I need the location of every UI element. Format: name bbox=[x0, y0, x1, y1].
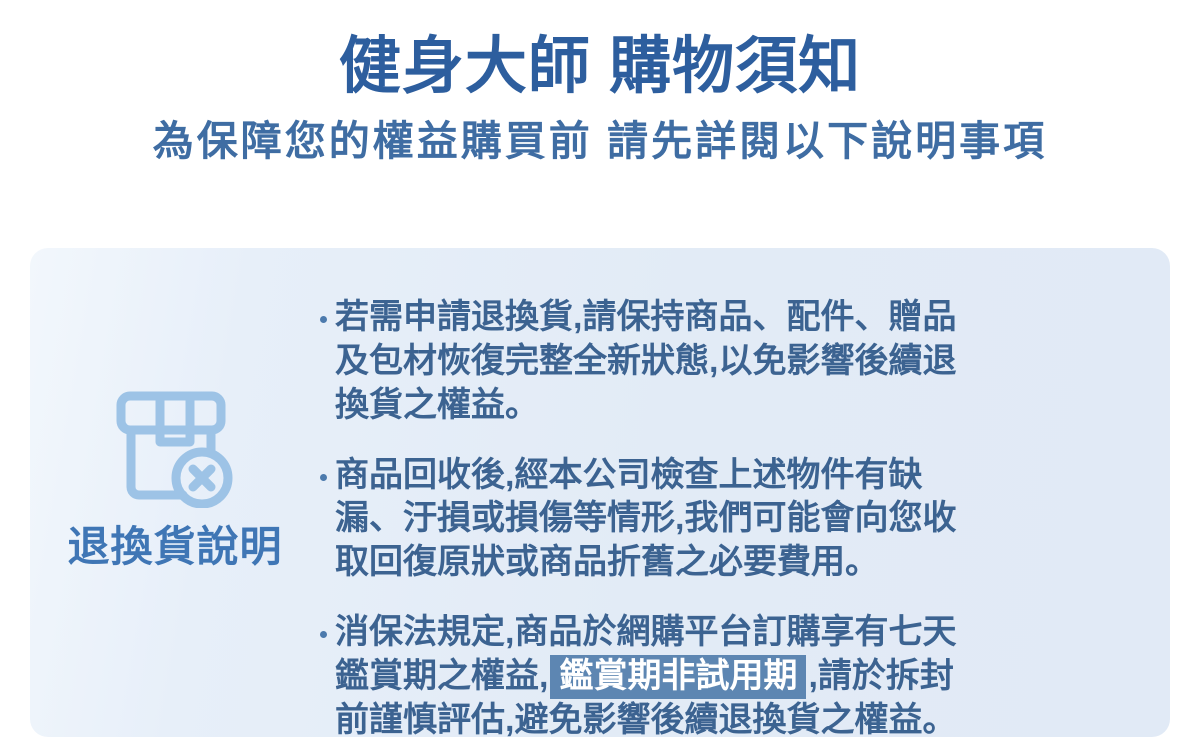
bullet-return-condition: 若需申請退換貨,請保持商品、配件、贈品及包材恢復完整全新狀態,以免影響後續退換貨… bbox=[335, 296, 972, 428]
list-item: 若需申請退換貨,請保持商品、配件、贈品及包材恢復完整全新狀態,以免影響後續退換貨… bbox=[320, 296, 1148, 428]
package-return-x-icon bbox=[113, 390, 237, 508]
policy-text-column: 若需申請退換貨,請保持商品、配件、贈品及包材恢復完整全新狀態,以免影響後續退換貨… bbox=[320, 248, 1170, 743]
bullet-dot-icon bbox=[320, 474, 327, 481]
icon-label: 退換貨說明 bbox=[67, 526, 282, 568]
page-title: 健身大師 購物須知 bbox=[0, 34, 1200, 101]
bullet-dot-icon bbox=[320, 631, 327, 638]
return-policy-panel: 退換貨說明 若需申請退換貨,請保持商品、配件、贈品及包材恢復完整全新狀態,以免影… bbox=[30, 248, 1170, 737]
icon-column: 退換貨說明 bbox=[30, 248, 320, 568]
list-item: 消保法規定,商品於網購平台訂購享有七天鑑賞期之權益,鑑賞期非試用期,請於拆封前謹… bbox=[320, 611, 1148, 743]
list-item: 商品回收後,經本公司檢查上述物件有缺漏、汙損或損傷等情形,我們可能會向您收取回復… bbox=[320, 454, 1148, 586]
page-subtitle: 為保障您的權益購買前 請先詳閱以下說明事項 bbox=[0, 119, 1200, 164]
bullet-dot-icon bbox=[320, 316, 327, 323]
highlight-badge: 鑑賞期非試用期 bbox=[550, 655, 806, 699]
bullet-inspection-fee: 商品回收後,經本公司檢查上述物件有缺漏、汙損或損傷等情形,我們可能會向您收取回復… bbox=[335, 454, 972, 586]
page-header: 健身大師 購物須知 為保障您的權益購買前 請先詳閱以下說明事項 bbox=[0, 0, 1200, 164]
bullet-seven-day-policy: 消保法規定,商品於網購平台訂購享有七天鑑賞期之權益,鑑賞期非試用期,請於拆封前謹… bbox=[335, 611, 972, 743]
